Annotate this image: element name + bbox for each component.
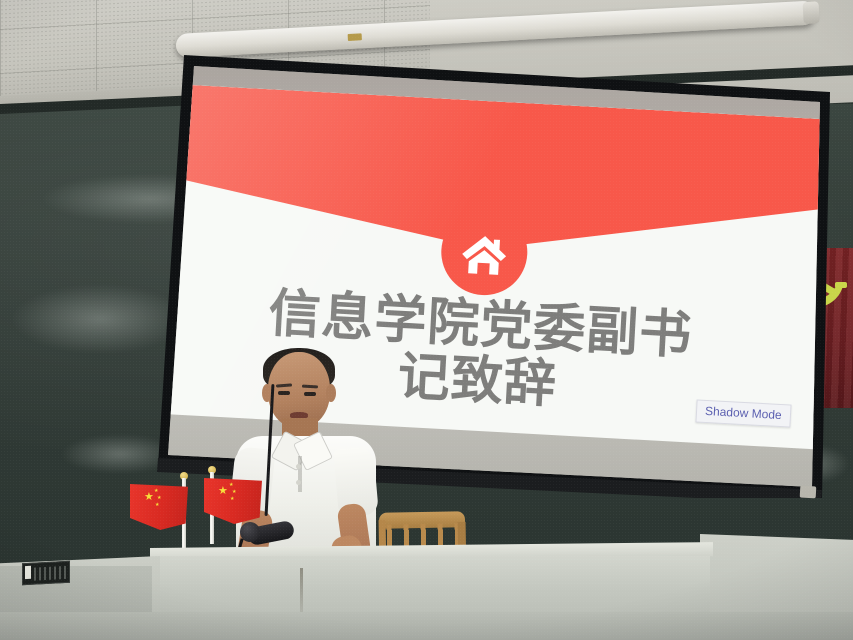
eye-left (278, 391, 290, 395)
shirt-button-top (296, 464, 301, 469)
flag-star-small-right-2: ★ (232, 490, 236, 495)
flag-star-small-left-1: ★ (154, 489, 158, 494)
flag-star-small-left-2: ★ (157, 496, 161, 501)
flag-star-small-right-3: ★ (230, 497, 234, 502)
screen-weight-bar-end (800, 486, 817, 499)
shirt-button-bottom (296, 480, 301, 485)
shirt-placket (298, 456, 302, 492)
podium-base (0, 612, 853, 640)
ear-right (326, 384, 336, 402)
av-control-panel[interactable] (22, 561, 70, 586)
control-panel-indicator (25, 566, 31, 579)
roller-brand-tab (348, 33, 362, 41)
control-panel-buttons[interactable] (34, 566, 67, 581)
flag-star-large-right: ★ (218, 486, 228, 497)
roller-end-cap (803, 1, 820, 24)
eye-right (304, 392, 316, 396)
flag-star-small-left-3: ★ (155, 503, 159, 508)
house-icon (458, 226, 511, 279)
photo-scene: 信息学院党委副书 记致辞 Shadow Mode (0, 0, 853, 640)
flag-star-large-left: ★ (144, 492, 154, 503)
flag-star-small-right-1: ★ (229, 483, 233, 488)
